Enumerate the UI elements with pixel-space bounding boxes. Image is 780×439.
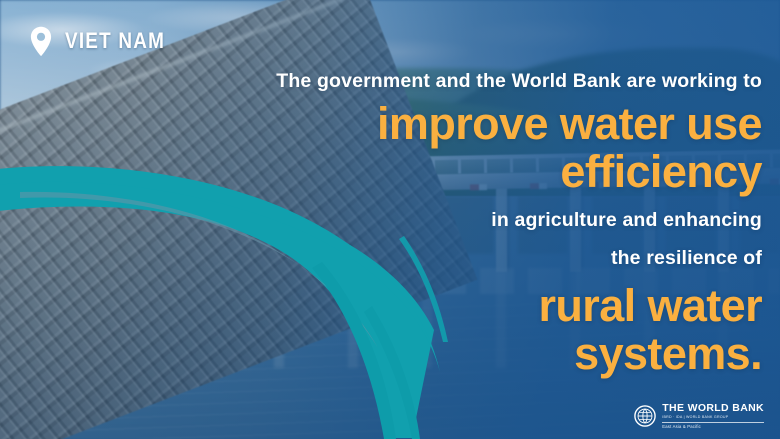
- world-bank-title: THE WORLD BANK: [662, 403, 764, 414]
- location-label: VIET NAM: [65, 28, 165, 54]
- headline-line-6: rural water: [242, 282, 762, 330]
- world-bank-subtitle: IBRD · IDA | WORLD BANK GROUP: [662, 416, 764, 420]
- location-tag: VIET NAM: [30, 26, 181, 56]
- headline-line-7: systems.: [242, 330, 762, 378]
- world-bank-region: East Asia & Pacific: [662, 425, 764, 429]
- headline-line-2: improve water use: [242, 100, 762, 148]
- world-bank-logotype: THE WORLD BANK IBRD · IDA | WORLD BANK G…: [662, 403, 764, 429]
- world-bank-logo: THE WORLD BANK IBRD · IDA | WORLD BANK G…: [634, 403, 764, 429]
- promo-graphic: VIET NAM The government and the World Ba…: [0, 0, 780, 439]
- logo-divider: [662, 422, 764, 423]
- headline-line-3: efficiency: [242, 148, 762, 196]
- map-pin-icon: [30, 26, 52, 56]
- headline-line-5: the resilience of: [242, 243, 762, 273]
- headline-block: The government and the World Bank are wo…: [242, 66, 762, 378]
- world-bank-globe-icon: [634, 405, 656, 427]
- headline-line-1: The government and the World Bank are wo…: [242, 66, 762, 96]
- headline-line-4: in agriculture and enhancing: [242, 205, 762, 235]
